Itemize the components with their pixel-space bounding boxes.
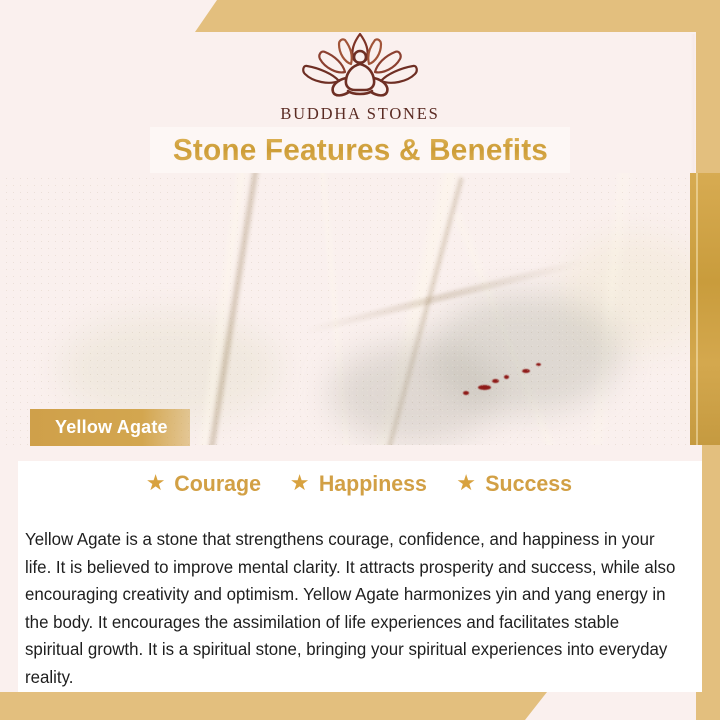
lotus-meditation-icon — [285, 26, 435, 100]
benefit-label: Courage — [175, 471, 262, 497]
page-title: Stone Features & Benefits — [172, 132, 547, 168]
card-top-tint — [18, 445, 702, 461]
benefits-row: ★ Courage ★ Happiness ★ Success — [18, 471, 702, 497]
benefit-item-success: ★ Success — [456, 471, 574, 497]
stone-description: Yellow Agate is a stone that strengthens… — [25, 526, 677, 691]
benefit-label: Happiness — [319, 471, 427, 497]
brand-logo: BUDDHA STONES — [0, 26, 720, 124]
star-icon: ★ — [456, 472, 476, 494]
title-banner: Stone Features & Benefits — [150, 127, 570, 173]
brand-name: BUDDHA STONES — [0, 104, 720, 124]
frame-bottom-left-band — [0, 692, 547, 720]
content-card: ★ Courage ★ Happiness ★ Success Yellow A… — [18, 445, 702, 692]
stone-name-label: Yellow Agate — [55, 417, 168, 438]
product-info-card: BUDDHA STONES Stone Features & Benefits … — [0, 0, 720, 720]
benefit-label: Success — [485, 471, 572, 497]
stone-name-badge: Yellow Agate — [30, 409, 190, 446]
benefit-item-happiness: ★ Happiness — [290, 471, 431, 497]
stone-grain-overlay — [0, 173, 720, 445]
benefit-item-courage: ★ Courage — [146, 471, 264, 497]
stone-right-edge-strip — [690, 173, 720, 445]
star-icon: ★ — [146, 472, 166, 494]
star-icon: ★ — [290, 472, 310, 494]
stone-hero-image — [0, 173, 720, 445]
